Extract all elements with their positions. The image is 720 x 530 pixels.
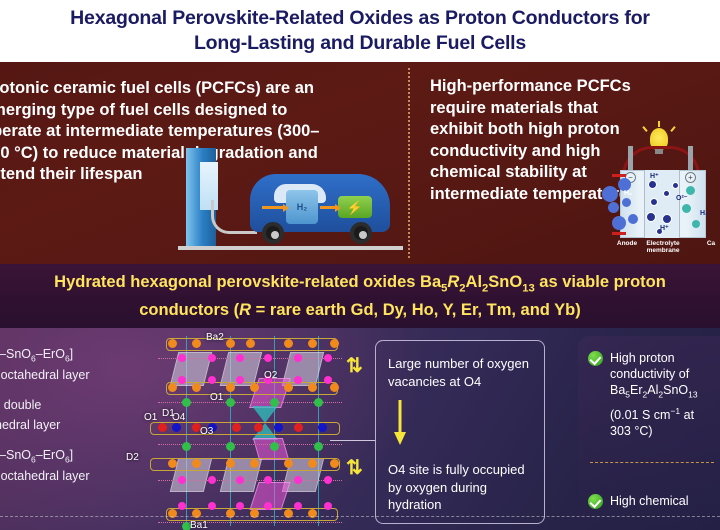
callout-bottom-text: O4 site is fully occupied by oxygen duri… [388, 461, 534, 514]
o-atom [178, 476, 186, 484]
green-atom [314, 442, 323, 451]
hydrogen-tank-icon: H₂ [286, 190, 318, 224]
ba-atom [168, 339, 177, 348]
o-atom [294, 502, 302, 510]
o-atom [208, 502, 216, 510]
o-atom [294, 354, 302, 362]
ba-atom [250, 459, 259, 468]
card-dashed-separator [590, 462, 714, 463]
o-atom [324, 476, 332, 484]
crystal-label-o1: O1 [210, 392, 223, 403]
yellow-headline-line-1: Hydrated hexagonal perovskite-related ox… [10, 271, 710, 299]
ba-atom [308, 459, 317, 468]
hydrogen-label: H₂ [624, 190, 632, 197]
cathode-terminal [688, 146, 693, 172]
lbl0-caption: triple octahedral layer [0, 367, 170, 383]
proton-ion [662, 214, 672, 224]
yb-al: Al [466, 273, 483, 291]
ba-atom [308, 339, 317, 348]
ba-atom [192, 339, 201, 348]
hydrogen-bubble [622, 198, 631, 207]
flow-arrow-2 [320, 206, 336, 209]
green-atom [270, 398, 279, 407]
proton-ion [663, 190, 670, 197]
o-atom [178, 502, 186, 510]
title-line-2: Long-Lasting and Durable Fuel Cells [15, 31, 705, 56]
title-line-1: Hexagonal Perovskite-Related Oxides as P… [15, 6, 705, 31]
callout-top-text: Large number of oxygen vacancies at O4 [388, 355, 534, 390]
o-atom [208, 354, 216, 362]
ev-charging-illustration: H₂ ⚡ [178, 140, 403, 260]
o4-atom [318, 423, 327, 432]
results-card: High proton conductivity of Ba5Er2Al2SnO… [578, 336, 720, 530]
crystal-label-d2: D2 [126, 452, 139, 463]
ba-atom [226, 339, 235, 348]
o1-atom [250, 383, 259, 392]
green-check-icon [588, 494, 603, 509]
ba-atom [246, 339, 255, 348]
zigzag-arrow-bottom: ⇅ [346, 458, 363, 478]
yb-sno: SnO [488, 273, 522, 291]
o-atom [294, 476, 302, 484]
oxide-label: O²⁻ [676, 194, 687, 202]
green-atom [182, 398, 191, 407]
o3-atom [254, 423, 263, 432]
result-bullet-chemical-stability: High chemical [588, 493, 712, 509]
b1-e: (0.01 S cm [610, 408, 670, 422]
o1-atom [330, 383, 339, 392]
green-atom [226, 398, 235, 407]
positive-terminal-badge: + [685, 172, 696, 183]
o4-atom [274, 423, 283, 432]
bottom-dashed-separator [0, 516, 720, 517]
lbl0-fc: –ErO [36, 347, 65, 361]
b1-sd: 13 [688, 390, 697, 400]
cathode-label: Ca [700, 240, 720, 247]
title-band: Hexagonal Perovskite-Related Oxides as P… [0, 0, 720, 62]
proton-label-1: H⁺ [650, 172, 659, 180]
top-section: Protonic ceramic fuel cells (PCFCs) are … [0, 62, 720, 264]
ground-line [178, 246, 403, 250]
lbl0-fd: ] [70, 347, 73, 361]
bulb-ray [670, 126, 675, 132]
o-atom [264, 354, 272, 362]
callout-connector-line [330, 440, 376, 441]
bulb-ray [658, 121, 660, 127]
o3-atom [158, 423, 167, 432]
yb-l2a: conductors ( [139, 301, 239, 319]
crystal-label-ba2: Ba2 [206, 332, 224, 343]
crystal-label-o3: O3 [200, 426, 213, 437]
o-atom [264, 476, 272, 484]
o3-atom [232, 423, 241, 432]
b1-supe: −1 [670, 406, 680, 416]
green-atom [270, 442, 279, 451]
infographic-canvas: Hexagonal Perovskite-Related Oxides as P… [0, 0, 720, 530]
battery-icon: ⚡ [338, 196, 372, 218]
b1-b: Er [630, 383, 643, 397]
anode-terminal [628, 146, 633, 172]
yellow-headline: Hydrated hexagonal perovskite-related ox… [10, 271, 710, 321]
flow-arrow-1 [262, 206, 284, 209]
yellow-headline-line-2: conductors (R = rare earth Gd, Dy, Ho, Y… [10, 299, 710, 321]
page-title: Hexagonal Perovskite-Related Oxides as P… [15, 6, 705, 56]
ba-atom [330, 339, 339, 348]
hydrogen-bubble [612, 216, 626, 230]
yb-l2b: = rare earth Gd, Dy, Ho, Y, Er, Tm, and … [251, 301, 581, 319]
lbl2-fd: ] [70, 448, 73, 462]
o-atom [324, 354, 332, 362]
o1-atom [284, 383, 293, 392]
o1-atom [192, 383, 201, 392]
o-atom [236, 354, 244, 362]
oxygen-vacancy-callout: Large number of oxygen vacancies at O4 O… [375, 340, 545, 524]
bullet-1-text: High proton conductivity of Ba5Er2Al2SnO… [610, 350, 712, 439]
proton-ion [672, 182, 679, 189]
yb-sub4: 13 [522, 282, 534, 294]
down-arrow-icon [392, 400, 534, 451]
yb-r: R [447, 273, 459, 291]
o4-atom [172, 423, 181, 432]
inlet-arrow [612, 174, 626, 177]
green-atom [226, 442, 235, 451]
o3-atom [294, 423, 303, 432]
o-atom [236, 476, 244, 484]
yb-r2: R [239, 301, 251, 319]
o-atom [178, 354, 186, 362]
vertical-dotted-divider [408, 68, 410, 258]
o1-atom [168, 383, 177, 392]
bulb-ray [642, 126, 647, 132]
ba-atom [168, 459, 177, 468]
crystal-structure-diagram: Ba2 O2 O1 O1 O4 O3 D1 D2 Ba1 ⇅ ⇅ [168, 330, 358, 528]
o-atom [264, 502, 272, 510]
ba-atom [284, 459, 293, 468]
o-atom [208, 376, 216, 384]
o-atom [324, 502, 332, 510]
anode-label: Anode [610, 240, 644, 247]
bullet-2-text: High chemical [610, 493, 689, 509]
ba-atom [284, 339, 293, 348]
oxide-ion [682, 204, 691, 213]
o-atom [178, 376, 186, 384]
lbl0-fb: –SnO [0, 347, 31, 361]
fuel-cell-schematic: − + H₂ H⁺ H⁺ O²⁻ H₂ [608, 128, 720, 262]
o1-atom [226, 383, 235, 392]
hydrogen-bubble [608, 202, 619, 213]
oxide-ion [692, 220, 700, 228]
yellow-headline-band: Hydrated hexagonal perovskite-related ox… [0, 264, 720, 328]
green-check-icon [588, 351, 603, 366]
outlet-arrow [612, 232, 626, 235]
o-atom [208, 476, 216, 484]
green-atom [314, 398, 323, 407]
ba-atom [192, 459, 201, 468]
water-label: H₂ [700, 210, 708, 217]
proton-ion [650, 198, 658, 206]
layer-label-triple-octahedral-bottom: [AlO6–SnO6–ErO6] triple octahedral layer [0, 447, 170, 484]
o-atom [324, 376, 332, 384]
car-wheel-rear [350, 222, 372, 244]
ba-atom [226, 459, 235, 468]
lbl2-fc: –ErO [36, 448, 65, 462]
crystal-label-ba1: Ba1 [190, 520, 208, 530]
hydrogen-bubble [628, 214, 638, 224]
b1-d: SnO [663, 383, 688, 397]
zigzag-arrow-top: ⇅ [346, 356, 363, 376]
result-bullet-proton-conductivity: High proton conductivity of Ba5Er2Al2SnO… [588, 350, 712, 439]
hydrogen-bubble [602, 186, 618, 202]
lbl1-fc: double [0, 398, 41, 412]
car-wheel-front [262, 222, 284, 244]
lbl2-fb: –SnO [0, 448, 31, 462]
crystal-label-o2: O2 [264, 370, 277, 381]
b1-c: Al [647, 383, 658, 397]
yb-l1a: Hydrated hexagonal perovskite-related ox… [54, 273, 441, 291]
ba-atom [330, 459, 339, 468]
o1-atom [308, 383, 317, 392]
yb-l1b: as viable proton [535, 273, 666, 291]
bottom-section: [AlO6–SnO6–ErO6] triple octahedral layer… [0, 328, 720, 530]
o-atom [236, 502, 244, 510]
crystal-label-d1: D1 [162, 408, 175, 419]
electrolyte-label: Electrolyte membrane [642, 240, 684, 254]
green-atom [182, 442, 191, 451]
proton-label-2: H⁺ [660, 224, 669, 232]
proton-ion [646, 212, 656, 222]
o-atom [294, 376, 302, 384]
crystal-label-o1-b: O1 [144, 412, 157, 423]
lbl2-caption: triple octahedral layer [0, 468, 170, 484]
o-atom [236, 376, 244, 384]
proton-ion [648, 180, 657, 189]
charging-station-icon [186, 148, 216, 246]
layer-label-triple-octahedral-top: [AlO6–SnO6–ErO6] triple octahedral layer [0, 346, 170, 383]
